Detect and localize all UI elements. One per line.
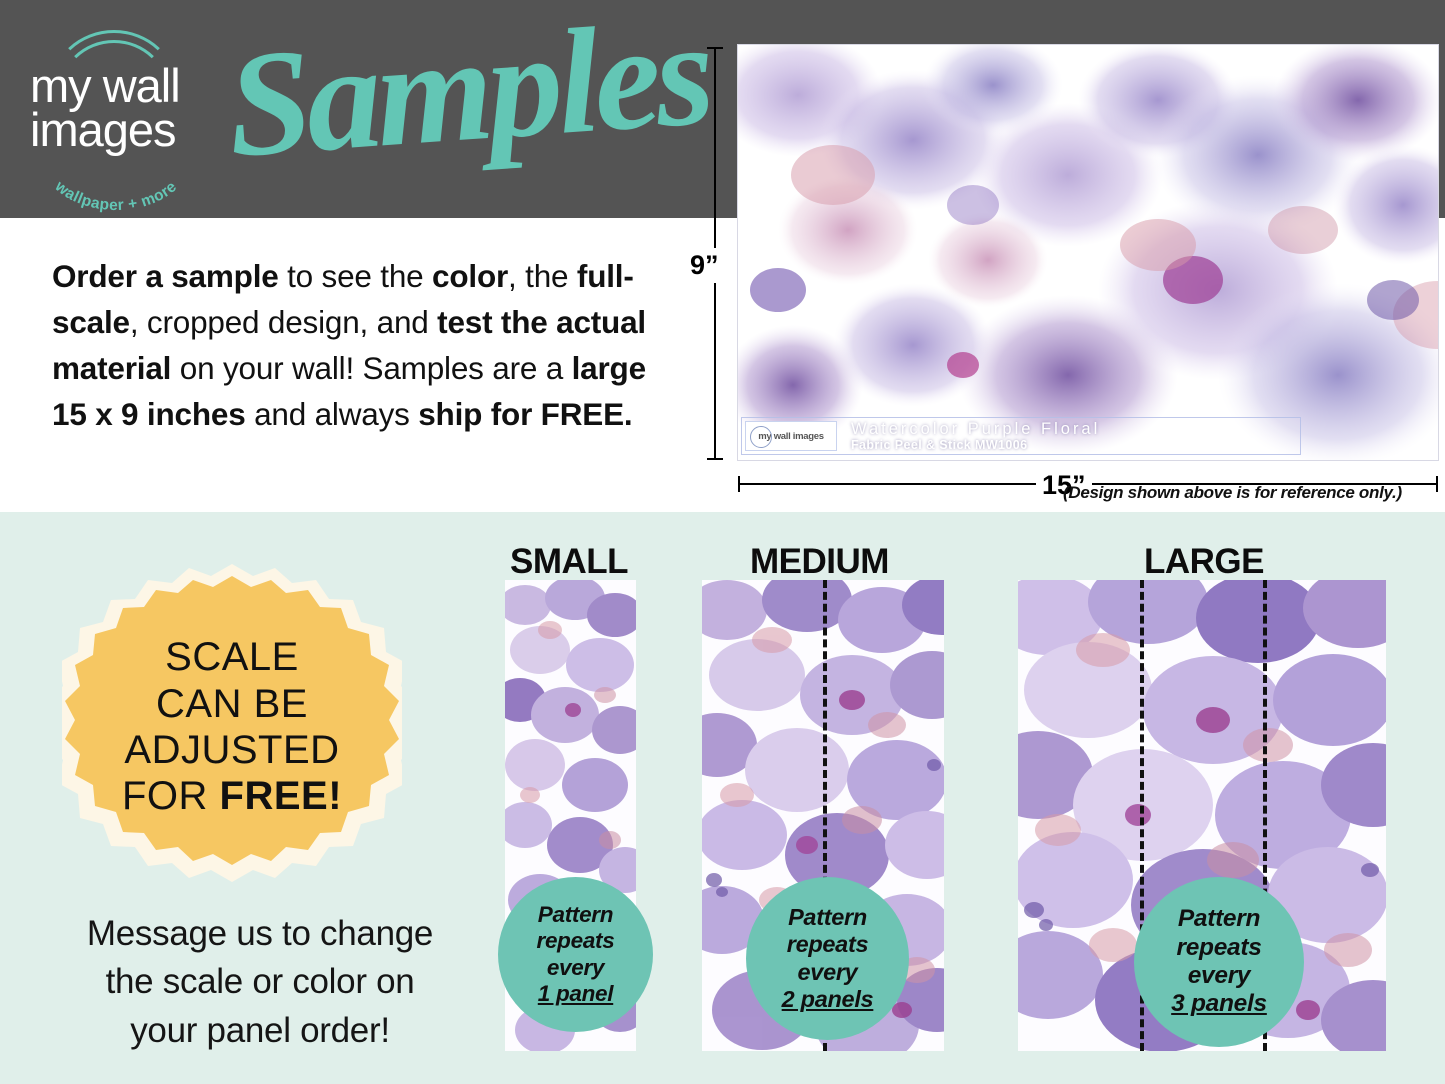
repeat-line-4: 1 panel bbox=[538, 981, 613, 1007]
badge-line-2: CAN BE bbox=[156, 681, 308, 727]
repeat-line-1: Pattern bbox=[1178, 905, 1260, 933]
height-dimension-label: 9” bbox=[688, 248, 721, 283]
intro-paragraph: Order a sample to see the color, the ful… bbox=[52, 254, 672, 438]
repeat-line-1: Pattern bbox=[538, 902, 613, 928]
logo-tagline: wallpaper + more bbox=[40, 154, 192, 202]
repeat-line-3: every bbox=[798, 959, 858, 986]
repeat-badge-small: Pattern repeats every 1 panel bbox=[498, 877, 653, 1032]
repeat-line-3: every bbox=[547, 955, 604, 981]
photo-caption-text: Watercolor Purple Floral Fabric Peel & S… bbox=[851, 420, 1100, 452]
svg-text:wallpaper + more: wallpaper + more bbox=[51, 177, 180, 214]
message-line-1: Message us to change bbox=[40, 910, 480, 958]
photo-caption-logo: my wall images bbox=[745, 421, 837, 451]
samples-script-title: Samples bbox=[222, 0, 715, 192]
repeat-line-2: repeats bbox=[537, 928, 615, 954]
badge-line-4-free: FREE! bbox=[220, 774, 343, 818]
badge-line-3: ADJUSTED bbox=[124, 727, 339, 773]
watercolor-floral-artwork bbox=[738, 45, 1438, 460]
badge-line-1: SCALE bbox=[165, 634, 299, 680]
scale-heading-large: LARGE bbox=[1144, 542, 1264, 582]
badge-line-4-prefix: FOR bbox=[122, 774, 220, 818]
design-name: Watercolor Purple Floral bbox=[851, 420, 1100, 438]
scale-adjust-badge: SCALE CAN BE ADJUSTED FOR FREE! bbox=[62, 562, 402, 892]
logo-tagline-text: wallpaper + more bbox=[51, 177, 180, 214]
repeat-badge-medium: Pattern repeats every 2 panels bbox=[746, 877, 909, 1040]
repeat-line-4: 3 panels bbox=[1171, 990, 1267, 1018]
repeat-line-3: every bbox=[1188, 962, 1251, 990]
scale-heading-small: SMALL bbox=[510, 542, 628, 582]
brand-logo: my wall images wallpaper + more bbox=[18, 26, 208, 201]
message-line-3: your panel order! bbox=[40, 1007, 480, 1055]
repeat-line-1: Pattern bbox=[788, 904, 867, 931]
design-material-sku: Fabric Peel & Stick MW1006 bbox=[851, 438, 1100, 452]
message-line-2: the scale or color on bbox=[40, 958, 480, 1006]
sample-design-photo: my wall images Watercolor Purple Floral … bbox=[738, 45, 1438, 460]
reference-note: (Design shown above is for reference onl… bbox=[1063, 483, 1402, 503]
scale-heading-medium: MEDIUM bbox=[750, 542, 889, 582]
photo-caption-bar: my wall images Watercolor Purple Floral … bbox=[741, 417, 1301, 455]
badge-text: SCALE CAN BE ADJUSTED FOR FREE! bbox=[62, 562, 402, 892]
repeat-badge-large: Pattern repeats every 3 panels bbox=[1134, 877, 1304, 1047]
repeat-line-2: repeats bbox=[1176, 934, 1261, 962]
message-text: Message us to change the scale or color … bbox=[40, 910, 480, 1055]
logo-line-1: my wall bbox=[30, 62, 180, 109]
photo-caption-logo-ring-icon bbox=[750, 426, 772, 448]
repeat-line-2: repeats bbox=[787, 931, 869, 958]
repeat-line-4: 2 panels bbox=[782, 986, 874, 1013]
logo-line-2: images bbox=[30, 106, 176, 153]
badge-line-4: FOR FREE! bbox=[122, 773, 342, 819]
